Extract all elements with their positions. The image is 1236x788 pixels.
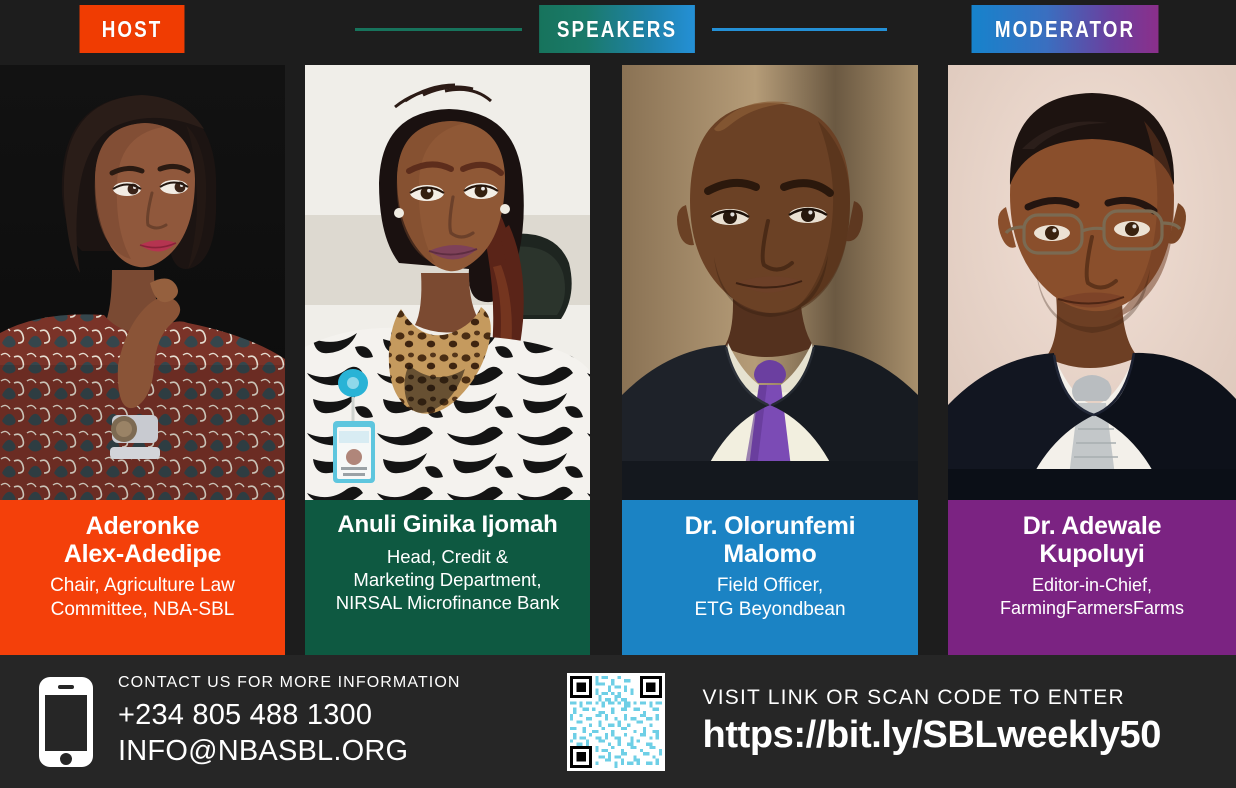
caption-host: Aderonke Alex-Adedipe Chair, Agriculture… — [0, 500, 285, 655]
portrait-photo-2 — [305, 65, 590, 500]
qr-code[interactable] — [567, 673, 665, 771]
person-name: Anuli Ginika Ijomah — [337, 512, 557, 539]
registration-link[interactable]: https://bit.ly/SBLweekly50 — [703, 714, 1161, 757]
panel-gap — [285, 65, 305, 655]
link-heading: VISIT LINK OR SCAN CODE TO ENTER — [703, 686, 1161, 710]
caption-moderator: Dr. Adewale Kupoluyi Editor-in-Chief, Fa… — [948, 500, 1236, 655]
contact-email: INFO@NBASBL.ORG — [118, 734, 461, 769]
panel-gap — [590, 65, 622, 655]
person-title: Head, Credit & Marketing Department, NIR… — [336, 545, 559, 614]
badge-speakers: SPEAKERS — [539, 5, 695, 53]
portrait-photo-4 — [948, 65, 1236, 500]
portrait-photo-3 — [622, 65, 918, 500]
caption-speaker-1: Anuli Ginika Ijomah Head, Credit & Marke… — [305, 500, 590, 655]
speaker-lineup-poster: HOST SPEAKERS MODERATOR — [0, 0, 1236, 788]
phone-icon — [38, 676, 94, 768]
badge-moderator: MODERATOR — [972, 5, 1159, 53]
caption-speaker-2: Dr. Olorunfemi Malomo Field Officer, ETG… — [622, 500, 918, 655]
panel-gap — [918, 65, 948, 655]
connector-line-left — [355, 28, 522, 31]
connector-line-right — [712, 28, 887, 31]
person-title: Chair, Agriculture Law Committee, NBA-SB… — [50, 574, 235, 622]
contact-block: CONTACT US FOR MORE INFORMATION +234 805… — [118, 674, 461, 769]
portrait-photo-1 — [0, 65, 285, 500]
person-title: Field Officer, ETG Beyondbean — [694, 574, 845, 622]
poster-header: HOST SPEAKERS MODERATOR — [0, 0, 1236, 65]
person-name: Aderonke Alex-Adedipe — [64, 512, 221, 568]
person-panel-host: Aderonke Alex-Adedipe Chair, Agriculture… — [0, 65, 285, 655]
person-title: Editor-in-Chief, FarmingFarmersFarms — [1000, 574, 1184, 619]
person-panel-speaker-2: Dr. Olorunfemi Malomo Field Officer, ETG… — [622, 65, 918, 655]
person-panel-moderator: Dr. Adewale Kupoluyi Editor-in-Chief, Fa… — [948, 65, 1236, 655]
panel-row: Aderonke Alex-Adedipe Chair, Agriculture… — [0, 65, 1236, 655]
person-panel-speaker-1: Anuli Ginika Ijomah Head, Credit & Marke… — [305, 65, 590, 655]
contact-phone: +234 805 488 1300 — [118, 698, 461, 733]
person-name: Dr. Adewale Kupoluyi — [1023, 512, 1162, 568]
contact-heading: CONTACT US FOR MORE INFORMATION — [118, 674, 461, 692]
badge-host: HOST — [80, 5, 185, 53]
link-block: VISIT LINK OR SCAN CODE TO ENTER https:/… — [703, 686, 1161, 757]
person-name: Dr. Olorunfemi Malomo — [685, 512, 856, 568]
poster-footer: CONTACT US FOR MORE INFORMATION +234 805… — [0, 655, 1236, 788]
